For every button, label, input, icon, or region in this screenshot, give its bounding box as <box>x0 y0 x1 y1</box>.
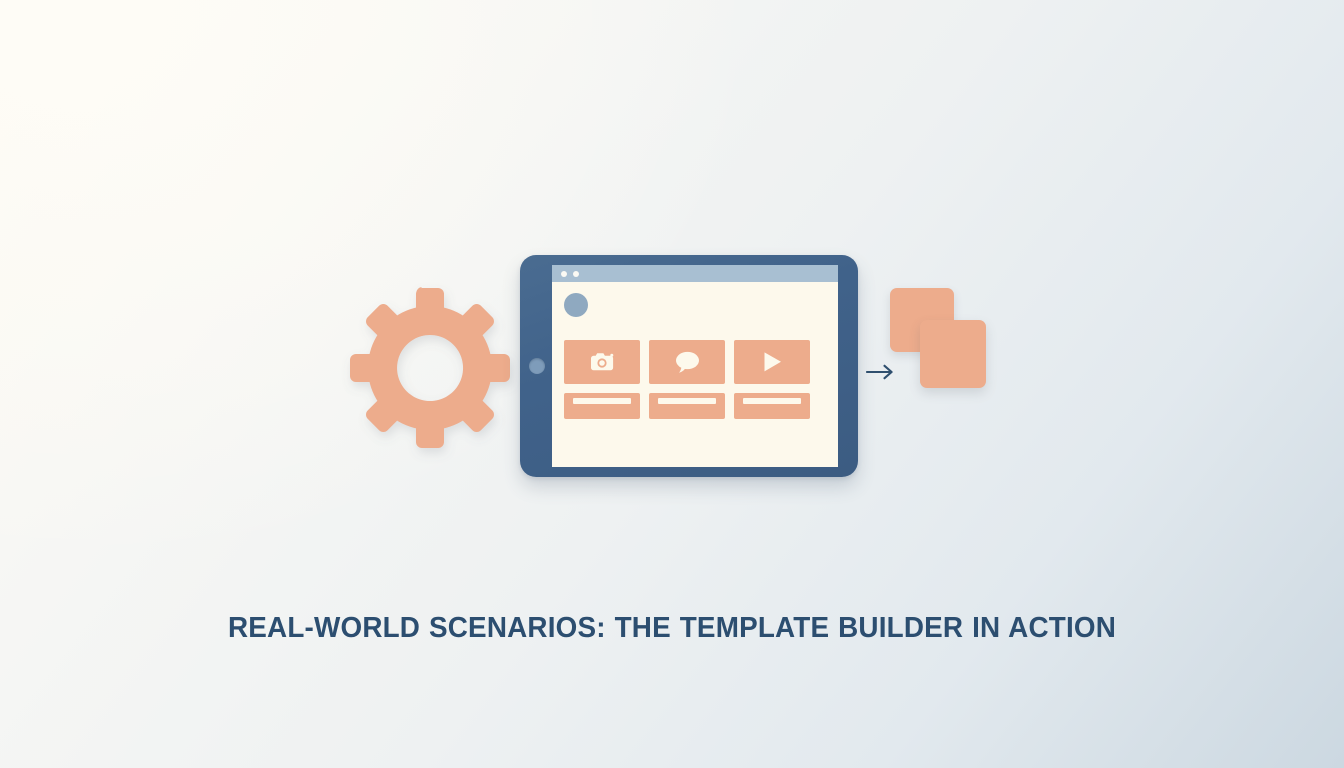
flow-arrow-icon <box>866 362 896 382</box>
browser-title-bar <box>552 265 838 282</box>
template-caption-row <box>564 393 826 419</box>
user-avatar <box>564 293 588 317</box>
output-template-card-front[interactable] <box>920 320 986 388</box>
tablet-screen <box>552 265 838 467</box>
play-icon <box>759 350 785 374</box>
template-tile-row <box>564 340 826 384</box>
camera-icon <box>587 351 617 373</box>
window-dot-icon[interactable] <box>573 271 579 277</box>
caption-line <box>743 398 801 404</box>
template-tile-message[interactable] <box>649 340 725 384</box>
template-tile-video[interactable] <box>734 340 810 384</box>
window-dot-icon[interactable] <box>561 271 567 277</box>
template-tile-photo[interactable] <box>564 340 640 384</box>
home-button[interactable] <box>529 358 545 374</box>
settings-gear-icon <box>352 290 508 446</box>
caption-line <box>573 398 631 404</box>
speech-bubble-icon <box>672 350 702 374</box>
template-caption-block[interactable] <box>564 393 640 419</box>
browser-page-content <box>552 282 838 467</box>
illustration-stage <box>0 0 1344 768</box>
template-caption-block[interactable] <box>734 393 810 419</box>
slide-title: REAL-WORLD SCENARIOS: THE TEMPLATE BUILD… <box>27 612 1317 645</box>
tablet-device <box>520 255 858 477</box>
template-caption-block[interactable] <box>649 393 725 419</box>
caption-line <box>658 398 716 404</box>
slide-canvas: REAL-WORLD SCENARIOS: THE TEMPLATE BUILD… <box>0 0 1344 768</box>
